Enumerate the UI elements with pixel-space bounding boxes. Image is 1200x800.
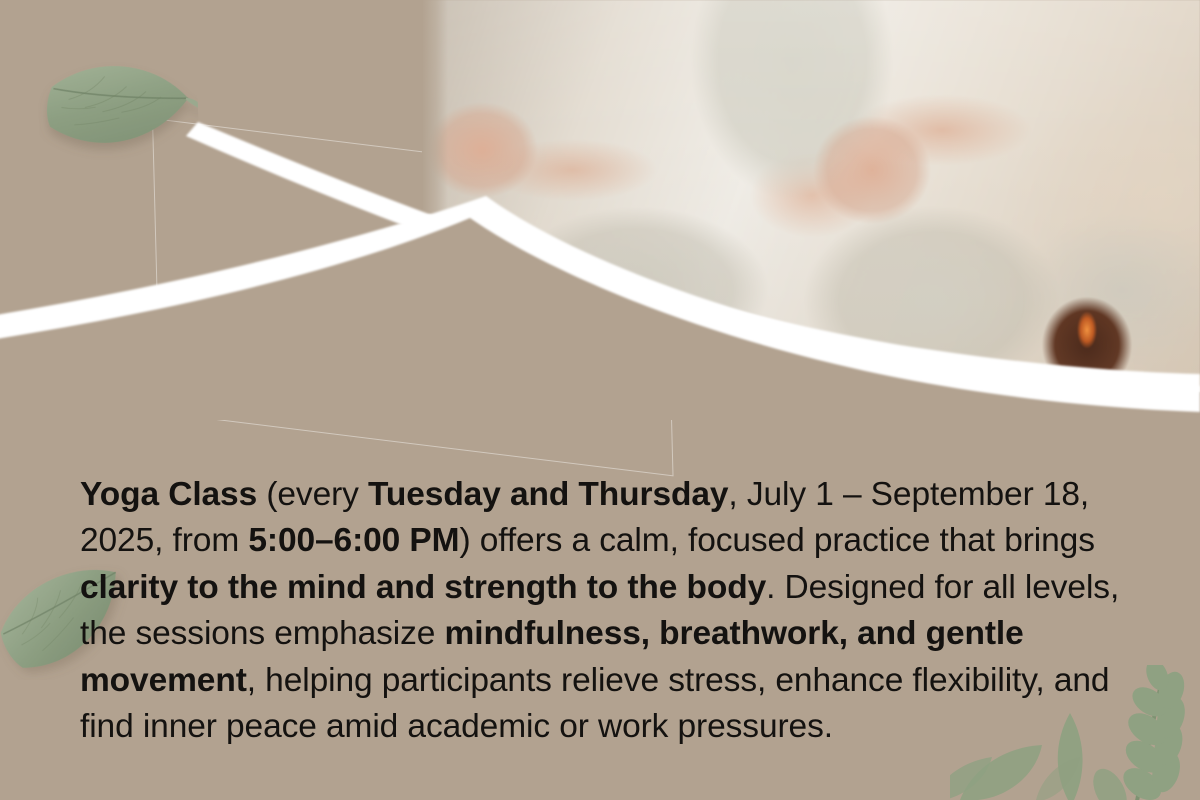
- body-emphasis: Yoga Class: [80, 476, 257, 513]
- body-text: (every: [257, 476, 368, 513]
- body-emphasis: 5:00–6:00 PM: [248, 522, 459, 559]
- body-emphasis: Tuesday and Thursday: [368, 476, 728, 513]
- poster-canvas: Yoga Class (every Tuesday and Thursday, …: [0, 0, 1200, 800]
- body-paragraph: Yoga Class (every Tuesday and Thursday, …: [80, 472, 1140, 751]
- body-text: ) offers a calm, focused practice that b…: [459, 522, 1094, 559]
- body-emphasis: clarity to the mind and strength to the …: [80, 569, 766, 606]
- leaf-icon: [36, 42, 200, 178]
